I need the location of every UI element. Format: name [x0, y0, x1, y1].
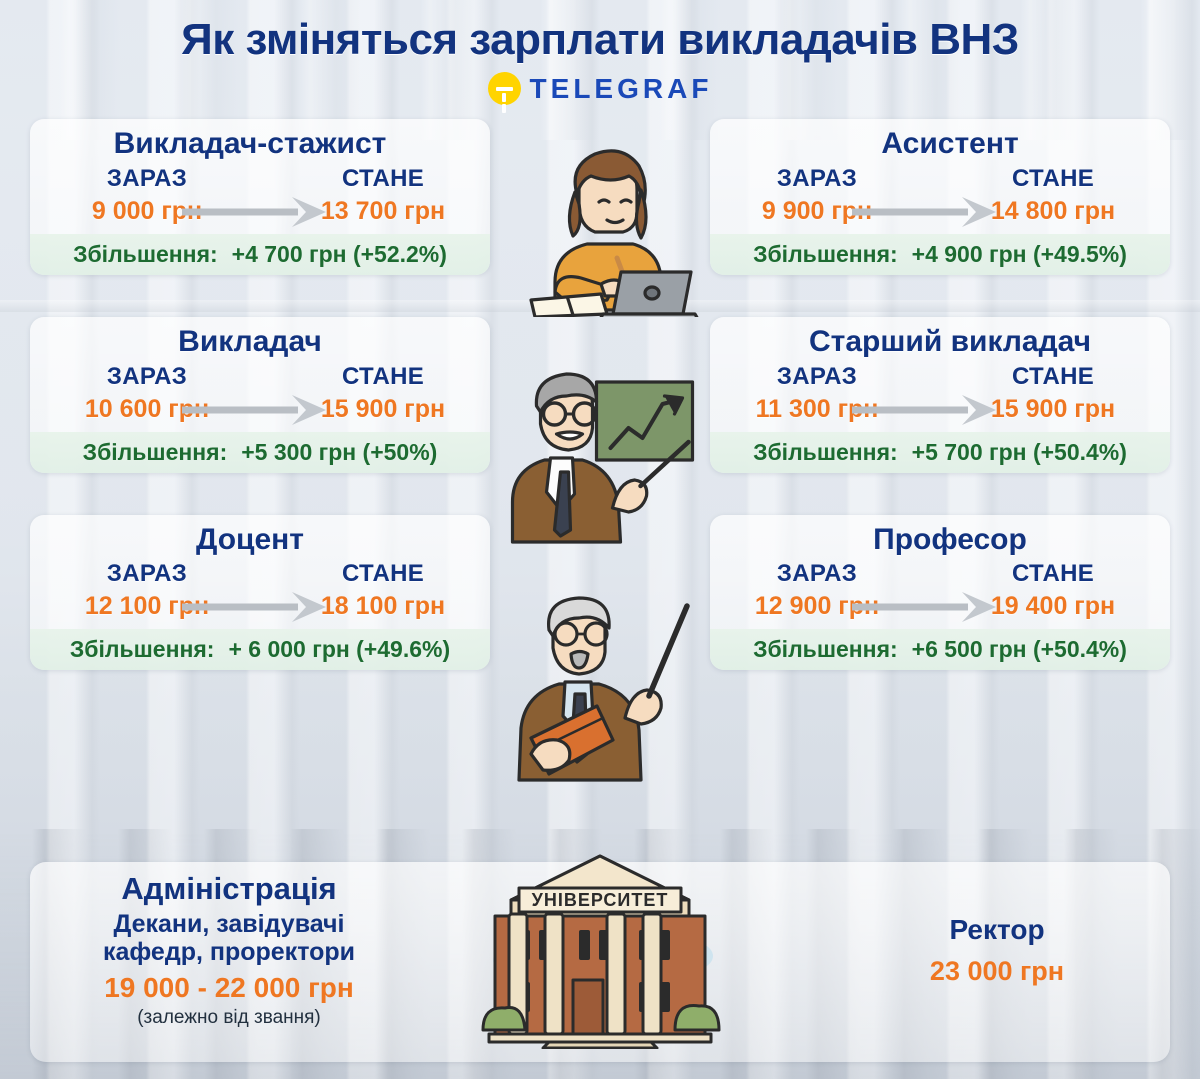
university-sign-text: УНІВЕРСИТЕТ: [532, 890, 669, 910]
card-title: Асистент: [722, 127, 1148, 161]
will-be-label: СТАНЕ: [298, 363, 468, 391]
university-building-illustration: УНІВЕРСИТЕТ: [475, 844, 725, 1049]
salary-card-profesor: Професор ЗАРАЗ 12 900 грн СТАНЕ 19 400 г…: [710, 515, 1170, 671]
will-be-value: 15 900 грн: [298, 395, 468, 424]
increase-value: +4 700 грн (+52.2%): [232, 241, 447, 268]
increase-value: + 6 000 грн (+49.6%): [228, 636, 450, 663]
salary-card-starshyi-vykladach: Старший викладач ЗАРАЗ 11 300 грн СТАНЕ …: [710, 317, 1170, 473]
now-value: 12 100 грн: [62, 592, 232, 621]
increase-label: Збільшення:: [753, 241, 898, 268]
now-column: ЗАРАЗ 9 000 грн: [62, 165, 232, 226]
increase-strip: Збільшення: +4 900 грн (+49.5%): [710, 234, 1170, 275]
rector-amount: 23 000 грн: [872, 956, 1122, 987]
administration-info: Адміністрація Декани, завідувачі кафедр,…: [64, 872, 394, 1029]
will-be-value: 19 400 грн: [968, 592, 1138, 621]
telegraf-logo-icon: [488, 72, 521, 105]
now-label: ЗАРАЗ: [62, 165, 232, 193]
compare-block: ЗАРАЗ 10 600 грн СТАНЕ 15 900 грн: [52, 363, 478, 424]
compare-block: ЗАРАЗ 12 900 грн СТАНЕ 19 400 грн: [722, 560, 1148, 621]
will-be-column: СТАНЕ 14 800 грн: [968, 165, 1138, 226]
will-be-value: 14 800 грн: [968, 197, 1138, 226]
administration-amount: 19 000 - 22 000 грн: [64, 972, 394, 1004]
now-value: 12 900 грн: [732, 592, 902, 621]
card-title: Викладач: [52, 325, 478, 359]
now-column: ЗАРАЗ 11 300 грн: [732, 363, 902, 424]
increase-label: Збільшення:: [753, 636, 898, 663]
now-column: ЗАРАЗ 9 900 грн: [732, 165, 902, 226]
will-be-value: 18 100 грн: [298, 592, 468, 621]
now-label: ЗАРАЗ: [732, 165, 902, 193]
now-value: 9 900 грн: [732, 197, 902, 226]
compare-block: ЗАРАЗ 12 100 грн СТАНЕ 18 100 грн: [52, 560, 478, 621]
will-be-column: СТАНЕ 13 700 грн: [298, 165, 468, 226]
increase-value: +6 500 грн (+50.4%): [912, 636, 1127, 663]
will-be-column: СТАНЕ 19 400 грн: [968, 560, 1138, 621]
increase-strip: Збільшення: +6 500 грн (+50.4%): [710, 629, 1170, 670]
administration-panel: Адміністрація Декани, завідувачі кафедр,…: [30, 862, 1170, 1062]
increase-value: +5 700 грн (+50.4%): [912, 439, 1127, 466]
rector-info: Ректор 23 000 грн: [872, 914, 1122, 987]
now-value: 11 300 грн: [732, 395, 902, 424]
page-title: Як зміняться зарплати викладачів ВНЗ: [0, 0, 1200, 64]
will-be-column: СТАНЕ 15 900 грн: [298, 363, 468, 424]
increase-strip: Збільшення: +5 300 грн (+50%): [30, 432, 490, 473]
now-label: ЗАРАЗ: [732, 560, 902, 588]
will-be-label: СТАНЕ: [968, 363, 1138, 391]
rector-label: Ректор: [872, 914, 1122, 946]
salary-card-vykladach-stazhyst: Викладач-стажист ЗАРАЗ 9 000 грн СТАНЕ 1…: [30, 119, 490, 275]
now-label: ЗАРАЗ: [62, 560, 232, 588]
card-title: Старший викладач: [722, 325, 1148, 359]
brand-name: TELEGRAF: [530, 73, 713, 105]
will-be-label: СТАНЕ: [968, 165, 1138, 193]
compare-block: ЗАРАЗ 9 000 грн СТАНЕ 13 700 грн: [52, 165, 478, 226]
young-woman-with-laptop-illustration: [495, 132, 705, 317]
infographic-page: Як зміняться зарплати викладачів ВНЗ TEL…: [0, 0, 1200, 1079]
salary-card-dotsent: Доцент ЗАРАЗ 12 100 грн СТАНЕ 18 100 грн…: [30, 515, 490, 671]
increase-strip: Збільшення: +4 700 грн (+52.2%): [30, 234, 490, 275]
now-column: ЗАРАЗ 12 100 грн: [62, 560, 232, 621]
will-be-value: 15 900 грн: [968, 395, 1138, 424]
will-be-label: СТАНЕ: [968, 560, 1138, 588]
now-label: ЗАРАЗ: [62, 363, 232, 391]
salary-card-asystent: Асистент ЗАРАЗ 9 900 грн СТАНЕ 14 800 гр…: [710, 119, 1170, 275]
administration-subtitle: Декани, завідувачі кафедр, проректори: [64, 910, 394, 966]
card-title: Викладач-стажист: [52, 127, 478, 161]
will-be-column: СТАНЕ 18 100 грн: [298, 560, 468, 621]
increase-label: Збільшення:: [753, 439, 898, 466]
increase-value: +4 900 грн (+49.5%): [912, 241, 1127, 268]
now-column: ЗАРАЗ 10 600 грн: [62, 363, 232, 424]
will-be-value: 13 700 грн: [298, 197, 468, 226]
now-value: 10 600 грн: [62, 395, 232, 424]
compare-block: ЗАРАЗ 11 300 грн СТАНЕ 15 900 грн: [722, 363, 1148, 424]
increase-label: Збільшення:: [70, 636, 215, 663]
now-value: 9 000 грн: [62, 197, 232, 226]
administration-title: Адміністрація: [64, 872, 394, 906]
professor-with-book-and-pointer-illustration: [495, 588, 705, 783]
brand-logo: TELEGRAF: [0, 72, 1200, 105]
increase-label: Збільшення:: [73, 241, 218, 268]
increase-value: +5 300 грн (+50%): [241, 439, 437, 466]
card-title: Професор: [722, 523, 1148, 557]
teacher-at-chalkboard-illustration: [493, 360, 708, 545]
compare-block: ЗАРАЗ 9 900 грн СТАНЕ 14 800 грн: [722, 165, 1148, 226]
will-be-column: СТАНЕ 15 900 грн: [968, 363, 1138, 424]
increase-label: Збільшення:: [83, 439, 228, 466]
salary-card-vykladach: Викладач ЗАРАЗ 10 600 грн СТАНЕ 15 900 г…: [30, 317, 490, 473]
increase-strip: Збільшення: +5 700 грн (+50.4%): [710, 432, 1170, 473]
now-label: ЗАРАЗ: [732, 363, 902, 391]
increase-strip: Збільшення: + 6 000 грн (+49.6%): [30, 629, 490, 670]
will-be-label: СТАНЕ: [298, 560, 468, 588]
now-column: ЗАРАЗ 12 900 грн: [732, 560, 902, 621]
card-title: Доцент: [52, 523, 478, 557]
will-be-label: СТАНЕ: [298, 165, 468, 193]
administration-note: (залежно від звання): [64, 1007, 394, 1029]
